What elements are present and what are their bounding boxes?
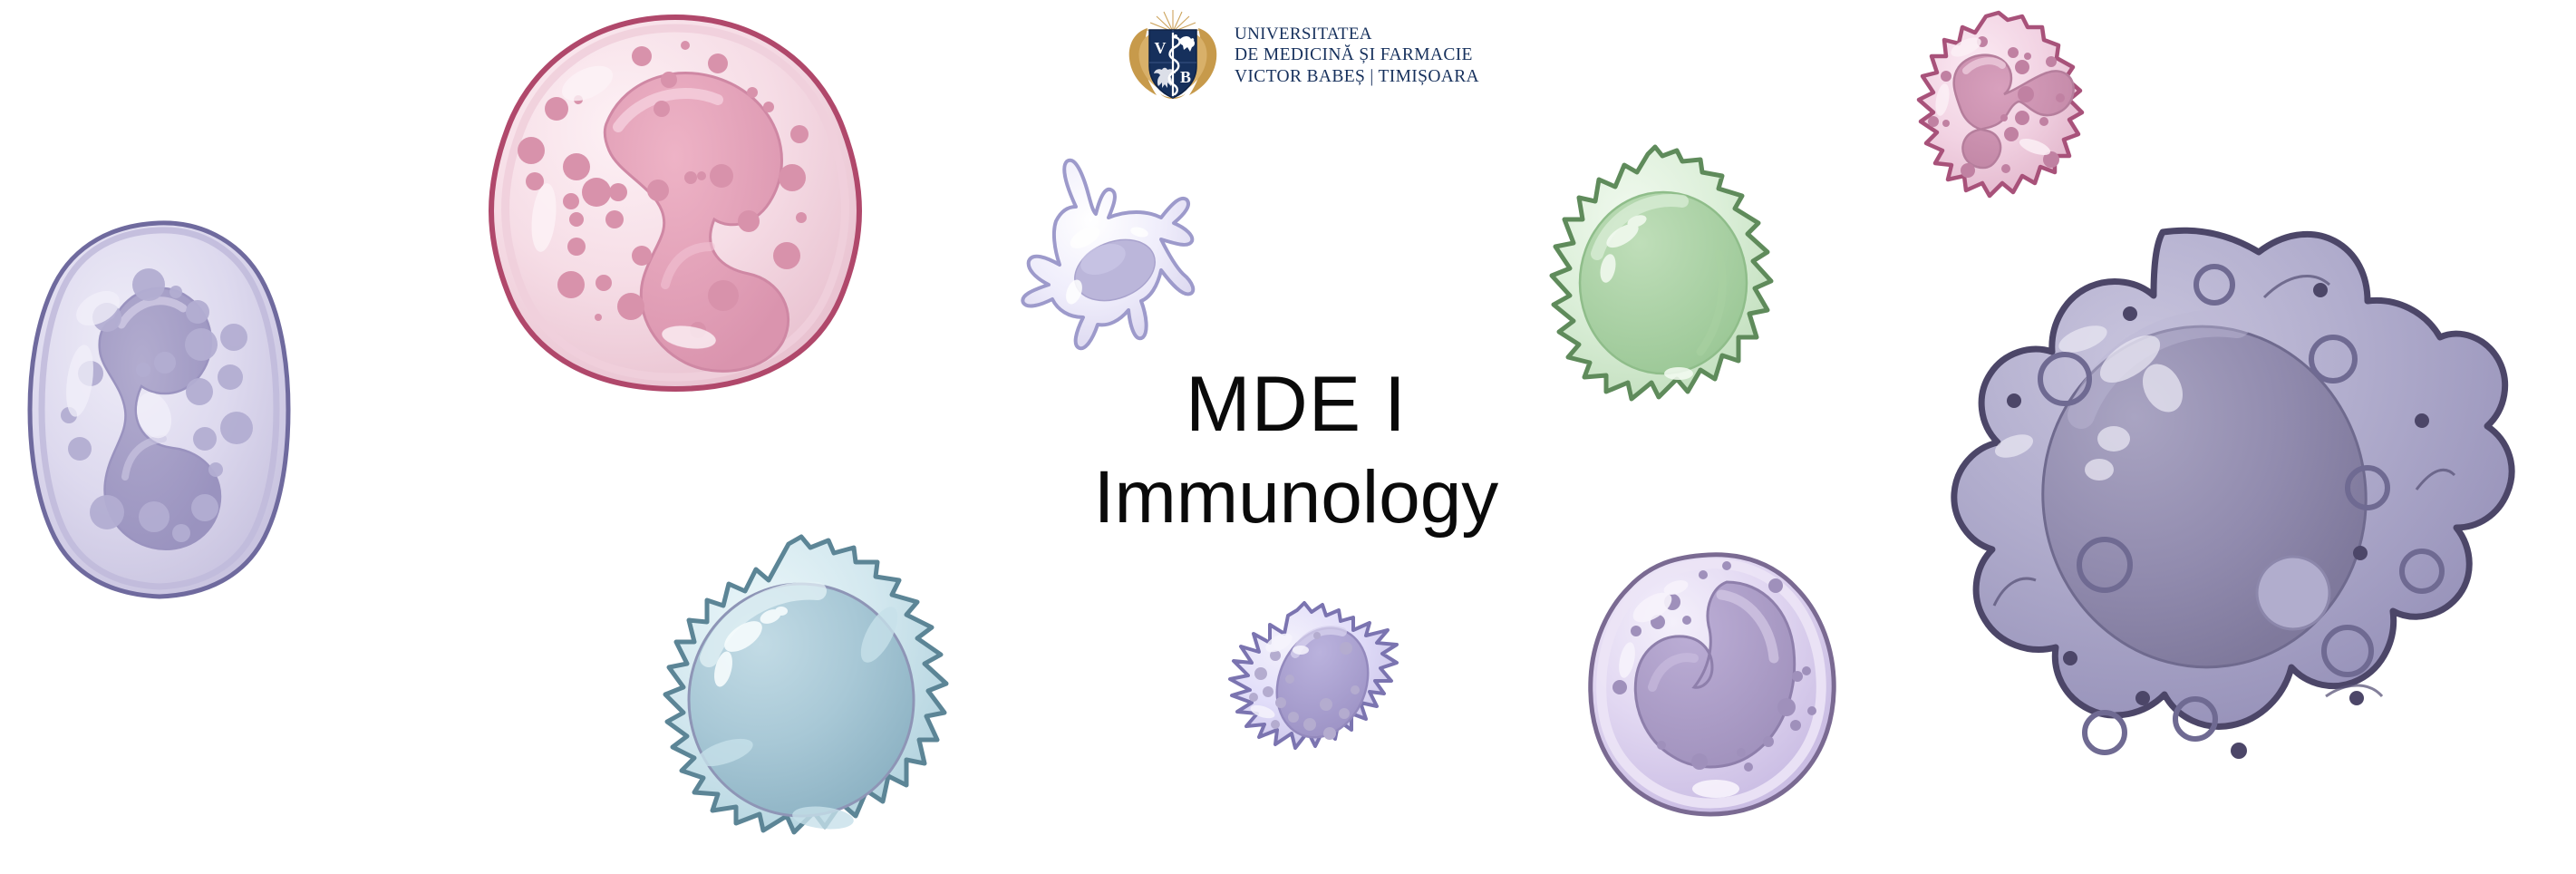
- title-main: MDE I: [997, 361, 1595, 448]
- cell-macrophage-purple-large: [1903, 225, 2520, 791]
- university-line-3: VICTOR BABEȘ | TIMIȘOARA: [1235, 66, 1479, 88]
- cell-eosinophil-pink-large: [480, 13, 870, 393]
- umft-crest-icon: V B: [1124, 8, 1222, 102]
- university-logo: V B UNIVERSITATEA DE MEDICINĂ ȘI FARMACI…: [1124, 5, 1505, 105]
- cell-lymphocyte-teal: [645, 535, 972, 861]
- cell-monocyte-light-purple: [1582, 551, 1845, 819]
- cell-neutrophil-pink-small: [1899, 11, 2098, 206]
- crest-letter-v: V: [1155, 39, 1167, 57]
- university-line-2: DE MEDICINĂ ȘI FARMACIE: [1235, 44, 1479, 66]
- title-subtitle: Immunology: [997, 455, 1595, 540]
- cell-nk-cell-spiky-purple: [1210, 603, 1400, 780]
- crest-letter-b: B: [1180, 68, 1191, 86]
- university-line-1: UNIVERSITATEA: [1235, 24, 1479, 44]
- cell-dendritic-cell-pale: [1002, 154, 1206, 354]
- cell-basophil-lavender-large: [27, 218, 290, 598]
- page-title: MDE I Immunology: [997, 361, 1595, 541]
- university-wordmark: UNIVERSITATEA DE MEDICINĂ ȘI FARMACIE VI…: [1235, 24, 1479, 88]
- immunology-title-slide: V B UNIVERSITATEA DE MEDICINĂ ȘI FARMACI…: [0, 0, 2576, 874]
